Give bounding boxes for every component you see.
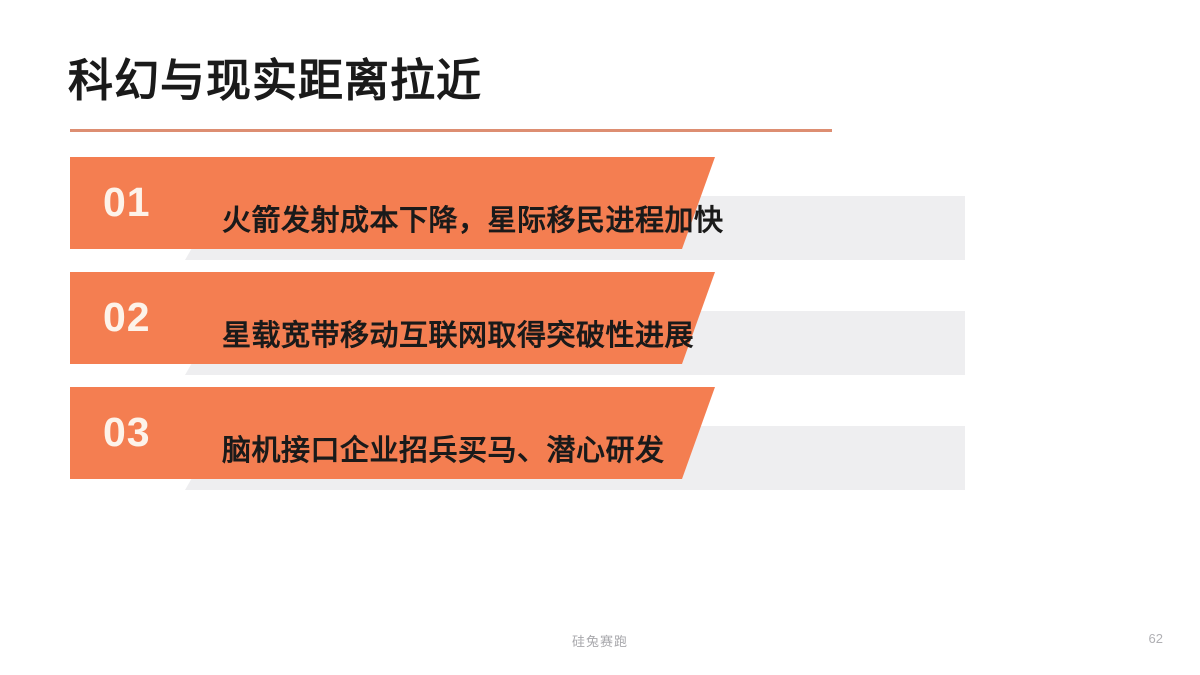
item-number: 03 [103,412,151,453]
page-number: 62 [1149,631,1163,646]
list-item[interactable]: 01 火箭发射成本下降，星际移民进程加快 [0,155,1200,275]
item-label: 脑机接口企业招兵买马、潜心研发 [222,437,665,466]
title-underline-rule [70,129,832,132]
item-number: 01 [103,182,151,223]
page-title: 科幻与现实距离拉近 [68,57,482,104]
item-label: 火箭发射成本下降，星际移民进程加快 [222,207,724,236]
slide-canvas: 科幻与现实距离拉近 01 火箭发射成本下降，星际移民进程加快 02 星载宽带移动… [0,0,1200,675]
list-item[interactable]: 02 星载宽带移动互联网取得突破性进展 [0,270,1200,390]
footer-brand: 硅兔赛跑 [0,631,1200,650]
item-number: 02 [103,297,151,338]
list-item[interactable]: 03 脑机接口企业招兵买马、潜心研发 [0,385,1200,505]
item-label: 星载宽带移动互联网取得突破性进展 [222,322,694,351]
